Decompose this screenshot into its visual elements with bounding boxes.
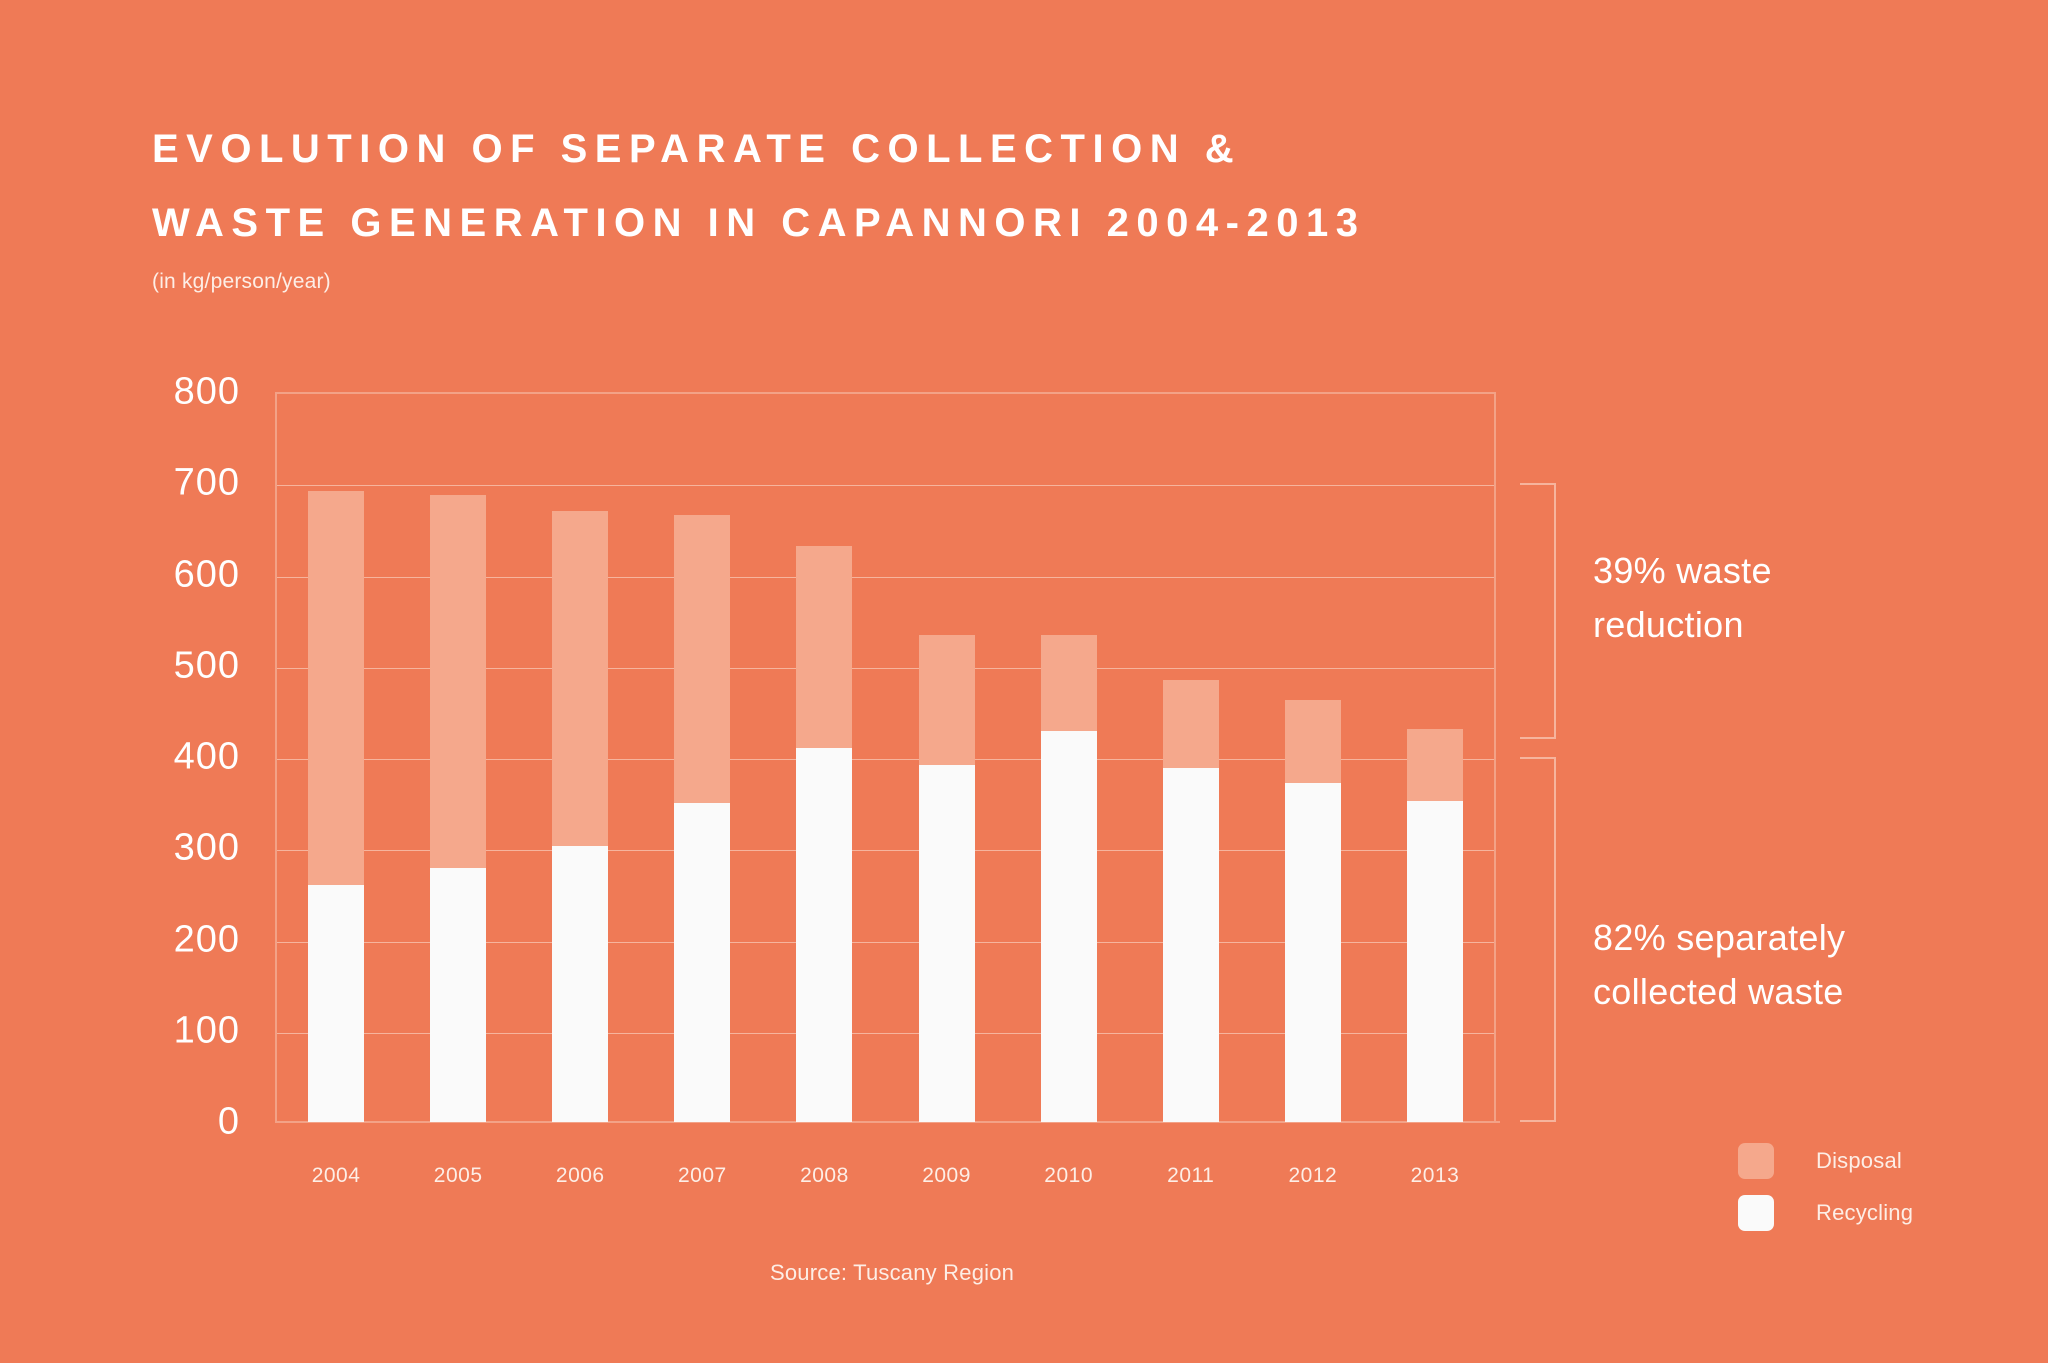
annotation-waste-reduction-line2: reduction: [1593, 598, 1993, 652]
bar-group-2004[interactable]: [308, 392, 364, 1122]
x-axis-label-2004: 2004: [276, 1164, 396, 1188]
y-axis-label-500: 500: [120, 644, 240, 687]
x-axis-label-2012: 2012: [1253, 1164, 1373, 1188]
legend-label-disposal: Disposal: [1816, 1148, 1902, 1174]
annotation-waste-reduction-line1: 39% waste: [1593, 544, 1993, 598]
y-axis-label-600: 600: [120, 553, 240, 596]
annotation-separately-collected-line2: collected waste: [1593, 965, 1993, 1019]
bar-segment-recycling-2013[interactable]: [1407, 801, 1463, 1122]
bar-segment-disposal-2010[interactable]: [1041, 635, 1097, 731]
x-axis-label-2013: 2013: [1375, 1164, 1495, 1188]
x-axis-label-2009: 2009: [887, 1164, 1007, 1188]
x-axis-label-2005: 2005: [398, 1164, 518, 1188]
x-axis-label-2008: 2008: [764, 1164, 884, 1188]
bar-segment-recycling-2009[interactable]: [919, 765, 975, 1122]
bar-group-2011[interactable]: [1163, 392, 1219, 1122]
bracket-separately-collected: [1520, 757, 1556, 1122]
bar-segment-disposal-2006[interactable]: [552, 511, 608, 847]
y-axis: 0100200300400500600700800: [110, 0, 240, 1363]
legend-item-disposal[interactable]: Disposal: [1738, 1135, 1913, 1187]
bar-segment-recycling-2011[interactable]: [1163, 768, 1219, 1122]
bar-group-2013[interactable]: [1407, 392, 1463, 1122]
bar-segment-disposal-2009[interactable]: [919, 635, 975, 765]
bar-group-2009[interactable]: [919, 392, 975, 1122]
bar-segment-disposal-2008[interactable]: [796, 546, 852, 748]
bar-segment-disposal-2011[interactable]: [1163, 680, 1219, 768]
bar-segment-disposal-2012[interactable]: [1285, 700, 1341, 782]
y-axis-label-100: 100: [120, 1009, 240, 1052]
x-axis-label-2011: 2011: [1131, 1164, 1251, 1188]
annotation-waste-reduction: 39% waste reduction: [1593, 544, 1993, 652]
x-axis-label-2006: 2006: [520, 1164, 640, 1188]
legend-swatch-disposal: [1738, 1143, 1774, 1179]
legend-label-recycling: Recycling: [1816, 1200, 1913, 1226]
chart-legend: DisposalRecycling: [1738, 1135, 1913, 1239]
annotation-separately-collected: 82% separately collected waste: [1593, 911, 1993, 1019]
bar-segment-recycling-2006[interactable]: [552, 846, 608, 1122]
bar-segment-recycling-2012[interactable]: [1285, 783, 1341, 1122]
bar-group-2006[interactable]: [552, 392, 608, 1122]
y-axis-label-0: 0: [120, 1101, 240, 1144]
bar-segment-recycling-2005[interactable]: [430, 868, 486, 1122]
bar-segment-disposal-2013[interactable]: [1407, 729, 1463, 801]
annotation-separately-collected-line1: 82% separately: [1593, 911, 1993, 965]
bracket-waste-reduction: [1520, 483, 1556, 739]
y-axis-label-800: 800: [120, 371, 240, 414]
bar-group-2010[interactable]: [1041, 392, 1097, 1122]
bar-segment-disposal-2004[interactable]: [308, 491, 364, 884]
bar-segment-recycling-2008[interactable]: [796, 748, 852, 1122]
bar-group-2007[interactable]: [674, 392, 730, 1122]
chart-source: Source: Tuscany Region: [770, 1260, 1014, 1286]
legend-item-recycling[interactable]: Recycling: [1738, 1187, 1913, 1239]
bar-segment-disposal-2005[interactable]: [430, 495, 486, 868]
bar-group-2012[interactable]: [1285, 392, 1341, 1122]
y-axis-label-700: 700: [120, 462, 240, 505]
y-axis-label-400: 400: [120, 736, 240, 779]
y-axis-label-200: 200: [120, 918, 240, 961]
x-axis-label-2007: 2007: [642, 1164, 762, 1188]
bar-segment-recycling-2007[interactable]: [674, 803, 730, 1122]
bar-group-2005[interactable]: [430, 392, 486, 1122]
legend-swatch-recycling: [1738, 1195, 1774, 1231]
x-axis-label-2010: 2010: [1009, 1164, 1129, 1188]
bar-segment-disposal-2007[interactable]: [674, 515, 730, 802]
y-axis-label-300: 300: [120, 827, 240, 870]
bar-group-2008[interactable]: [796, 392, 852, 1122]
bar-segment-recycling-2010[interactable]: [1041, 731, 1097, 1122]
bar-series-container: [275, 392, 1496, 1122]
bar-segment-recycling-2004[interactable]: [308, 885, 364, 1122]
